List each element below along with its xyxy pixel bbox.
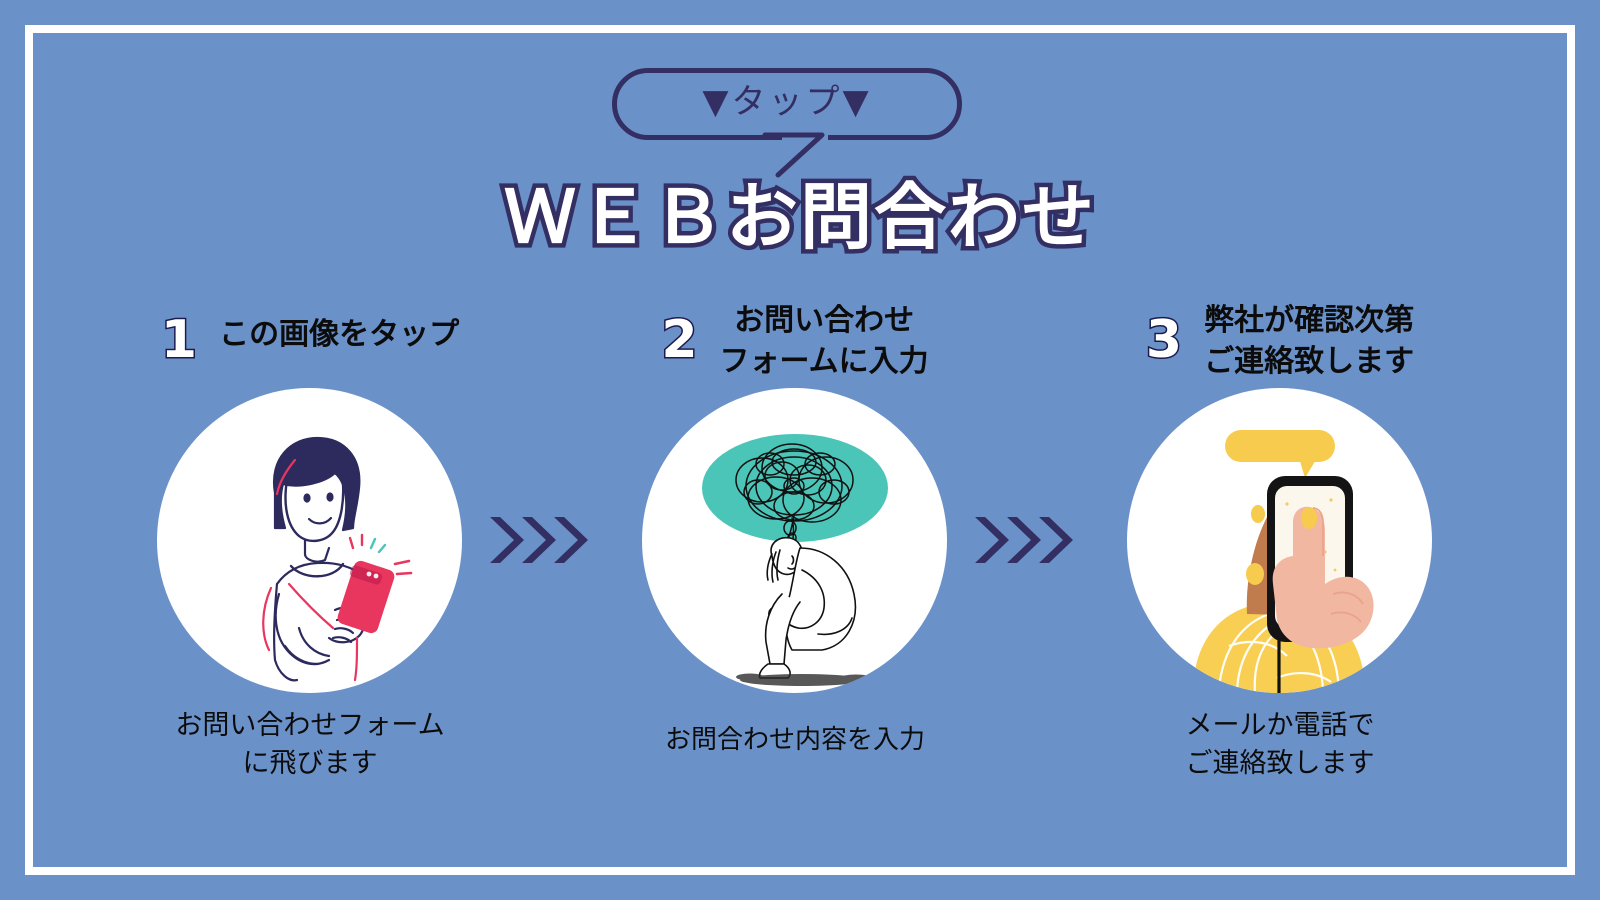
step-3-caption: メールか電話で ご連絡致します xyxy=(1065,707,1495,784)
step-1-caption: お問い合わせフォーム に飛びます xyxy=(95,707,525,784)
step-1-illustration[interactable] xyxy=(157,388,462,693)
tap-callout: ▼タップ▼ xyxy=(612,68,962,178)
step-2-title: お問い合わせ フォームに入力 xyxy=(720,292,929,383)
step-3-title: 弊社が確認次第 ご連絡致します xyxy=(1204,292,1414,383)
step-2-header: 2 お問い合わせ フォームに入力 xyxy=(580,292,1010,387)
step-3-illustration[interactable] xyxy=(1127,388,1432,693)
step-3-number: 3 xyxy=(1146,314,1182,366)
step-1-number: 1 xyxy=(161,314,197,366)
tap-callout-label: ▼タップ▼ xyxy=(612,68,962,140)
step-2-illustration[interactable] xyxy=(642,388,947,693)
step-2[interactable]: 2 お問い合わせ フォームに入力 xyxy=(580,292,1010,822)
page-title: ＷＥＢお問合わせ xyxy=(0,176,1600,259)
yellow-speech-bubble-icon xyxy=(1225,430,1335,478)
step-3-header: 3 弊社が確認次第 ご連絡致します xyxy=(1065,292,1495,387)
step-1-header: 1 この画像をタップ xyxy=(95,292,525,387)
step-2-caption: お問合わせ内容を入力 xyxy=(580,722,1010,759)
step-1[interactable]: 1 この画像をタップ xyxy=(95,292,525,822)
step-2-number: 2 xyxy=(661,314,697,366)
web-contact-banner[interactable]: ▼タップ▼ ＷＥＢお問合わせ 1 この画像をタップ xyxy=(0,0,1600,900)
step-3[interactable]: 3 弊社が確認次第 ご連絡致します xyxy=(1065,292,1495,822)
step-1-title: この画像をタップ xyxy=(219,292,459,355)
